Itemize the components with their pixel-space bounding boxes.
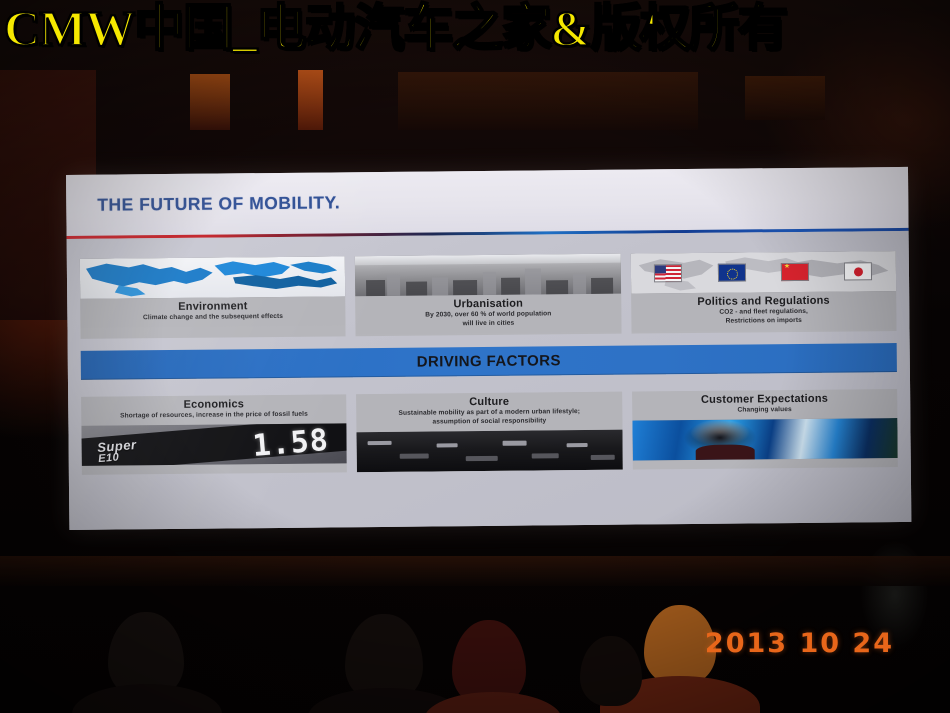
presentation-slide: THE FUTURE OF MOBILITY. (66, 167, 911, 530)
customer-expectations-title: Customer Expectations (636, 392, 893, 407)
usa-flag-icon (654, 264, 682, 282)
page-title: THE FUTURE OF MOBILITY. (97, 192, 340, 215)
driving-factors-label: DRIVING FACTORS (417, 352, 561, 370)
card-culture: Culture Sustainable mobility as part of … (356, 392, 622, 473)
driving-factors-banner: DRIVING FACTORS (81, 343, 897, 380)
card-customer-expectations: Customer Expectations Changing values (632, 389, 898, 470)
camera-datestamp: 2013 10 24 (705, 628, 894, 659)
politics-subtitle-line2: Restrictions on imports (635, 316, 892, 326)
politics-photo (630, 251, 896, 294)
urbanisation-caption: Urbanisation By 2030, over 60 % of world… (356, 294, 622, 334)
watermark-text: CMW中国_电动汽车之家&版权所有 (0, 2, 950, 55)
environment-caption: Environment Climate change and the subse… (80, 296, 346, 328)
city-skyline-grayscale-icon (355, 254, 621, 297)
urbanisation-subtitle-line2: will live in cities (360, 319, 617, 329)
politics-title: Politics and Regulations (635, 294, 892, 309)
japan-flag-icon (844, 262, 872, 280)
audience-head-5 (580, 636, 642, 706)
customer-expectations-subtitle: Changing values (636, 405, 893, 415)
culture-title: Culture (360, 395, 617, 410)
economics-photo: Super E10 1.58 (81, 423, 347, 466)
environment-photo (80, 256, 346, 299)
world-map-with-flags-icon (630, 251, 896, 294)
flag-row (630, 251, 896, 294)
economics-caption: Economics Shortage of resources, increas… (81, 394, 347, 426)
card-politics-and-regulations: Politics and Regulations CO2 - and fleet… (630, 251, 896, 334)
warm-light-strip-a (190, 74, 230, 130)
stage-floor-band (0, 556, 950, 586)
culture-caption: Culture Sustainable mobility as part of … (356, 392, 622, 432)
fuel-pump-display-icon: Super E10 1.58 (81, 423, 347, 466)
urbanisation-title: Urbanisation (360, 297, 617, 312)
china-flag-icon (781, 263, 809, 281)
blue-portrait-woman-icon (632, 418, 898, 461)
card-environment: Environment Climate change and the subse… (80, 256, 346, 339)
photo-of-projected-slide: THE FUTURE OF MOBILITY. (0, 0, 950, 713)
customer-expectations-photo (632, 418, 898, 461)
environment-subtitle: Climate change and the subsequent effect… (84, 313, 341, 323)
pump-grade-label: Super E10 (97, 439, 138, 465)
economics-title: Economics (85, 397, 342, 412)
bottom-factor-row: Economics Shortage of resources, increas… (81, 389, 898, 475)
culture-subtitle-line2: assumption of social responsibility (361, 417, 618, 427)
traffic-aerial-night-icon (357, 430, 623, 473)
eu-flag-icon (718, 263, 746, 281)
warm-light-strip-b (298, 70, 323, 130)
top-factor-row: Environment Climate change and the subse… (80, 251, 897, 339)
card-urbanisation: Urbanisation By 2030, over 60 % of world… (355, 254, 621, 337)
politics-caption: Politics and Regulations CO2 - and fleet… (631, 291, 897, 331)
economics-subtitle: Shortage of resources, increase in the p… (85, 411, 342, 421)
urbanisation-photo (355, 254, 621, 297)
culture-photo (357, 430, 623, 473)
warm-light-strip-c (745, 76, 825, 120)
pump-price-value: 1.58 (251, 426, 329, 462)
customer-expectations-caption: Customer Expectations Changing values (632, 389, 898, 421)
world-map-blue-icon (80, 256, 346, 299)
slide-body: Environment Climate change and the subse… (67, 231, 912, 530)
environment-title: Environment (84, 299, 341, 314)
slide-title-band: THE FUTURE OF MOBILITY. (66, 167, 909, 236)
card-economics: Economics Shortage of resources, increas… (81, 394, 347, 475)
wall-panel-right (398, 72, 698, 130)
